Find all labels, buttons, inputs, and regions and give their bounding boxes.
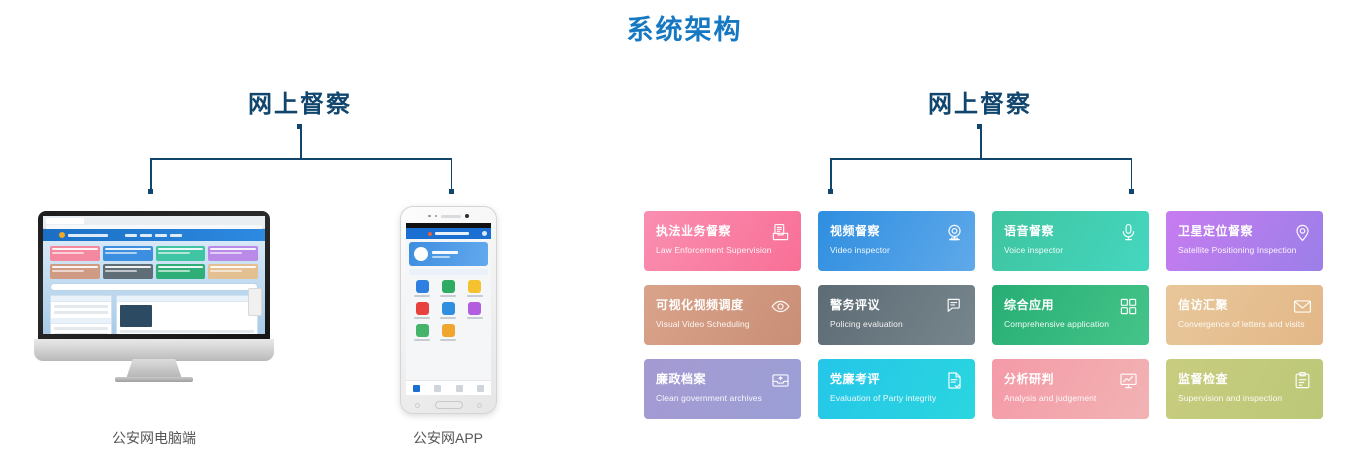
connector-dot-right — [449, 189, 454, 194]
app-header — [406, 228, 491, 239]
tab-settings-icon[interactable] — [477, 385, 484, 392]
app-header-title — [435, 232, 469, 235]
app-tile-label — [440, 317, 456, 319]
tab-message-icon[interactable] — [456, 385, 463, 392]
section-heading-right: 网上督察 — [835, 84, 1125, 119]
panel-header — [51, 296, 111, 302]
portal-mini-card — [103, 246, 153, 261]
service-card[interactable]: 卫星定位督察Satellite Positioning Inspection — [1166, 211, 1323, 271]
monitor-screen — [43, 216, 265, 334]
phone-screen — [406, 223, 491, 395]
portal-mini-card — [50, 264, 100, 279]
service-card-subtitle: Satellite Positioning Inspection — [1178, 245, 1311, 255]
portal-mini-card-title — [105, 248, 151, 250]
app-grid-item[interactable] — [410, 324, 434, 341]
connector-dot-right — [1129, 189, 1134, 194]
message-bubble-icon — [482, 231, 487, 236]
chart-board-icon — [1119, 371, 1138, 390]
panel-row — [54, 311, 108, 314]
service-card-subtitle: Analysis and judgement — [1004, 393, 1137, 403]
profile-text — [432, 251, 458, 258]
app-tile-icon — [442, 280, 455, 293]
tab-work-icon[interactable] — [434, 385, 441, 392]
service-card-title: 警务评议 — [830, 296, 963, 313]
portal-mini-card-sub — [52, 252, 84, 254]
portal-mini-card-title — [52, 248, 98, 250]
panel-header — [51, 318, 111, 324]
app-grid-item[interactable] — [463, 302, 487, 319]
portal-logo-icon — [59, 232, 65, 238]
portal-search-bar — [50, 283, 258, 291]
phone-nav-back-icon — [415, 403, 420, 408]
portal-main-panel — [116, 295, 258, 334]
portal-nav-item — [155, 234, 167, 237]
service-card-title: 党廉考评 — [830, 370, 963, 387]
portal-nav-title — [68, 234, 108, 237]
service-card[interactable]: 视频督察Video inspector — [818, 211, 975, 271]
app-tile-label — [440, 339, 456, 341]
connector-stem — [300, 126, 302, 159]
section-heading-left: 网上督察 — [155, 84, 445, 119]
profile-name — [432, 251, 458, 254]
portal-mini-card-sub — [158, 270, 190, 272]
service-card-subtitle: Voice inspector — [1004, 245, 1137, 255]
service-card-subtitle: Visual Video Scheduling — [656, 319, 789, 329]
app-logo-icon — [428, 232, 432, 236]
app-grid-item[interactable] — [410, 302, 434, 319]
app-profile-card — [409, 242, 488, 266]
app-tab-bar — [406, 380, 491, 395]
connector-stem — [980, 126, 982, 159]
proximity-sensor-icon — [435, 215, 438, 218]
service-card[interactable]: 廉政档案Clean government archives — [644, 359, 801, 419]
service-card-grid: 执法业务督察Law Enforcement Supervision视频督察Vid… — [644, 211, 1346, 419]
portal-mini-card-sub — [105, 270, 137, 272]
portal-mini-card-sub — [52, 270, 84, 272]
service-card-title: 视频督察 — [830, 222, 963, 239]
portal-mini-card-title — [210, 248, 256, 250]
portal-mini-card — [208, 264, 258, 279]
service-card-title: 综合应用 — [1004, 296, 1137, 313]
panel-header — [117, 296, 257, 302]
monitor-chin — [34, 339, 274, 361]
portal-nav-item — [170, 234, 182, 237]
connector-tree-right — [830, 126, 1132, 192]
app-tile-icon — [416, 324, 429, 337]
proximity-sensor-icon — [428, 215, 431, 218]
monitor-bezel — [38, 211, 270, 343]
portal-body — [43, 241, 265, 334]
app-tile-icon — [442, 302, 455, 315]
portal-mini-card-sub — [210, 270, 242, 272]
panel-thumbnail — [120, 305, 152, 327]
service-card-title: 监督检查 — [1178, 370, 1311, 387]
envelope-icon — [1293, 297, 1312, 316]
app-tile-label — [467, 295, 483, 297]
portal-lower-panels — [50, 295, 258, 334]
panel-row — [54, 327, 108, 330]
portal-nav-item — [140, 234, 152, 237]
portal-mini-card-title — [210, 266, 256, 268]
map-pin-icon — [1293, 223, 1312, 242]
app-grid-item[interactable] — [410, 280, 434, 297]
smartphone-mockup — [400, 206, 497, 414]
connector-tree-left — [150, 126, 452, 192]
app-grid-item[interactable] — [436, 302, 460, 319]
service-card[interactable]: 可视化视频调度Visual Video Scheduling — [644, 285, 801, 345]
archive-tray-icon — [771, 371, 790, 390]
panel-row — [54, 305, 108, 308]
connector-bar — [830, 158, 1132, 160]
app-tile-icon — [442, 324, 455, 337]
connector-drop-right — [1131, 158, 1133, 192]
service-card-subtitle: Law Enforcement Supervision — [656, 245, 789, 255]
portal-mini-card-title — [105, 266, 151, 268]
portal-mini-card-sub — [158, 252, 190, 254]
connector-drop-left — [150, 158, 152, 192]
app-tile-icon — [468, 302, 481, 315]
service-card[interactable]: 监督检查Supervision and inspection — [1166, 359, 1323, 419]
inbox-document-icon — [771, 223, 790, 242]
app-tile-label — [414, 317, 430, 319]
portal-mini-card-title — [158, 248, 204, 250]
webcam-icon — [945, 223, 964, 242]
service-card-title: 可视化视频调度 — [656, 296, 789, 313]
microphone-icon — [1119, 223, 1138, 242]
service-card-subtitle: Supervision and inspection — [1178, 393, 1311, 403]
monitor-base — [115, 377, 193, 382]
connector-bar — [150, 158, 452, 160]
service-card[interactable]: 党廉考评Evaluation of Party integrity — [818, 359, 975, 419]
monitor-stand — [126, 359, 182, 379]
connector-dot-top — [977, 124, 982, 129]
service-card-subtitle: Policing evaluation — [830, 319, 963, 329]
service-card-subtitle: Clean government archives — [656, 393, 789, 403]
phone-home-button — [435, 401, 463, 409]
page-title: 系统架构 — [0, 8, 1369, 47]
clipboard-list-icon — [1293, 371, 1312, 390]
service-card-subtitle: Evaluation of Party integrity — [830, 393, 963, 403]
service-card-title: 分析研判 — [1004, 370, 1137, 387]
app-tile-label — [440, 295, 456, 297]
app-tile-label — [414, 339, 430, 341]
portal-mini-card — [103, 264, 153, 279]
phone-body — [400, 206, 497, 414]
service-card[interactable]: 信访汇聚Convergence of letters and visits — [1166, 285, 1323, 345]
service-card[interactable]: 分析研判Analysis and judgement — [992, 359, 1149, 419]
service-card[interactable]: 综合应用Comprehensive application — [992, 285, 1149, 345]
front-camera-icon — [465, 214, 469, 218]
service-card-title: 语音督察 — [1004, 222, 1137, 239]
portal-side-button — [248, 288, 262, 316]
service-card-title: 执法业务督察 — [656, 222, 789, 239]
portal-mini-card-sub — [210, 252, 242, 254]
phone-nav-recents-icon — [477, 403, 482, 408]
app-icon-grid — [406, 275, 491, 341]
chat-bubble-icon — [945, 297, 964, 316]
phone-earpiece — [441, 215, 461, 218]
service-card-title: 廉政档案 — [656, 370, 789, 387]
portal-mini-card — [156, 246, 206, 261]
connector-dot-left — [828, 189, 833, 194]
app-tile-icon — [416, 280, 429, 293]
service-card[interactable]: 语音督察Voice inspector — [992, 211, 1149, 271]
desktop-monitor-mockup — [34, 211, 274, 371]
document-check-icon — [945, 371, 964, 390]
avatar — [414, 247, 428, 261]
panel-row — [120, 330, 254, 333]
profile-subtitle — [432, 256, 450, 258]
service-card[interactable]: 执法业务督察Law Enforcement Supervision — [644, 211, 801, 271]
app-tile-icon — [468, 280, 481, 293]
connector-dot-left — [148, 189, 153, 194]
connector-dot-top — [297, 124, 302, 129]
panel-row — [54, 333, 108, 334]
tab-home-icon[interactable] — [413, 385, 420, 392]
browser-chrome — [43, 216, 265, 229]
app-grid-item[interactable] — [436, 324, 460, 341]
portal-mini-card — [156, 264, 206, 279]
portal-card-grid — [50, 246, 258, 279]
service-card-subtitle: Video inspector — [830, 245, 963, 255]
portal-mini-card — [50, 246, 100, 261]
device-caption-pc: 公安网电脑端 — [54, 428, 254, 448]
app-tile-label — [467, 317, 483, 319]
portal-nav-item — [125, 234, 137, 237]
browser-tab — [46, 218, 84, 224]
service-card-subtitle: Convergence of letters and visits — [1178, 319, 1311, 329]
service-card-title: 卫星定位督察 — [1178, 222, 1311, 239]
connector-drop-right — [451, 158, 453, 192]
portal-navbar — [43, 229, 265, 241]
app-tile-icon — [416, 302, 429, 315]
app-tile-label — [414, 295, 430, 297]
service-card-subtitle: Comprehensive application — [1004, 319, 1137, 329]
service-card[interactable]: 警务评议Policing evaluation — [818, 285, 975, 345]
app-grid-item[interactable] — [463, 280, 487, 297]
service-card-title: 信访汇聚 — [1178, 296, 1311, 313]
grid-squares-icon — [1119, 297, 1138, 316]
eye-icon — [771, 297, 790, 316]
portal-mini-card-title — [52, 266, 98, 268]
app-grid-item[interactable] — [436, 280, 460, 297]
connector-drop-left — [830, 158, 832, 192]
phone-top-sensors — [401, 214, 496, 218]
device-caption-app: 公安网APP — [348, 428, 548, 448]
portal-mini-card — [208, 246, 258, 261]
portal-side-panel — [50, 295, 112, 334]
portal-mini-card-title — [158, 266, 204, 268]
portal-mini-card-sub — [105, 252, 137, 254]
